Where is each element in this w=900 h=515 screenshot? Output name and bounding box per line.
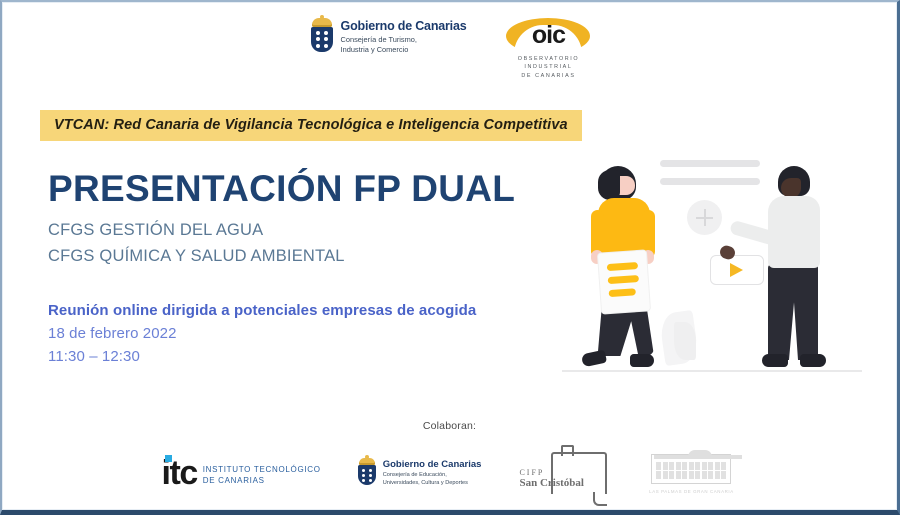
program-subtitle-chemistry: CFGS QUÍMICA Y SALUD AMBIENTAL <box>48 244 345 270</box>
classical-building-icon <box>651 454 731 484</box>
gobierno-canarias-turismo-logo: Gobierno de Canarias Consejería de Turis… <box>309 18 467 54</box>
building-windows <box>656 462 726 479</box>
two-people-sharing-content-illustration <box>562 140 892 390</box>
oic-logo: oic OBSERVATORIO INDUSTRIAL DE CANARIAS <box>506 18 590 80</box>
plant-leaf-icon <box>674 322 696 360</box>
footer-logo-row: itc INSTITUTO TECNOLÓGICO DE CANARIAS Go… <box>2 450 897 496</box>
cifp-name: San Cristóbal <box>519 477 584 490</box>
woman-hair-front <box>598 170 620 200</box>
header-logo-row: Gobierno de Canarias Consejería de Turis… <box>2 18 897 80</box>
man-torso <box>768 196 820 268</box>
oic-wordmark: oic <box>506 23 590 48</box>
ground-line <box>562 370 862 372</box>
document-icon <box>598 250 650 313</box>
crown-icon <box>359 458 375 465</box>
gobierno-logo-subtitle: Consejería de Turismo, Industria y Comer… <box>341 35 467 54</box>
gobierno-educacion-title: Gobierno de Canarias <box>383 460 482 470</box>
program-subtitle-list: CFGS GESTIÓN DEL AGUA CFGS QUÍMICA Y SAL… <box>48 218 345 269</box>
oic-subtitle: OBSERVATORIO INDUSTRIAL DE CANARIAS <box>506 55 590 80</box>
plus-circle-icon <box>687 200 722 235</box>
gobierno-logo-text: Gobierno de Canarias Consejería de Turis… <box>341 18 467 54</box>
itc-subtitle: INSTITUTO TECNOLÓGICO DE CANARIAS <box>203 460 321 486</box>
meeting-details: Reunión online dirigida a potenciales em… <box>48 302 476 365</box>
gobierno-educacion-subtitle: Consejería de Educación, Universidades, … <box>383 472 482 487</box>
gobierno-canarias-educacion-logo: Gobierno de Canarias Consejería de Educa… <box>357 458 482 487</box>
man-face <box>781 178 801 198</box>
shield-body <box>311 27 333 52</box>
meeting-time: 11:30 – 12:30 <box>48 348 476 365</box>
collaborators-label: Colaboran: <box>2 420 897 432</box>
woman-face <box>618 176 635 195</box>
crown-icon <box>312 18 332 27</box>
meeting-date: 18 de febrero 2022 <box>48 325 476 342</box>
itc-logo: itc INSTITUTO TECNOLÓGICO DE CANARIAS <box>162 458 321 489</box>
cifp-text: CIFP San Cristóbal <box>519 468 584 490</box>
gobierno-logo-title: Gobierno de Canarias <box>341 20 467 33</box>
cifp-san-cristobal-logo: CIFP San Cristóbal <box>517 450 609 496</box>
woman-shoe-left <box>581 350 607 368</box>
building-pediment <box>688 450 712 457</box>
vtcan-banner: VTCAN: Red Canaria de Vigilancia Tecnoló… <box>40 110 582 141</box>
cifp-acronym: CIFP <box>519 468 584 477</box>
man-shoe-right <box>800 354 826 367</box>
canary-islands-shield-icon <box>309 18 335 52</box>
meeting-headline: Reunión online dirigida a potenciales em… <box>48 302 476 319</box>
canary-islands-shield-icon <box>357 458 377 485</box>
woman-shoe-right <box>630 354 654 367</box>
placeholder-line-icon <box>660 160 760 167</box>
gobierno-educacion-text: Gobierno de Canarias Consejería de Educa… <box>383 458 482 487</box>
placeholder-line-icon <box>660 178 760 185</box>
oic-mark: oic <box>506 18 590 54</box>
page-title: PRESENTACIÓN FP DUAL <box>48 170 515 207</box>
institution-building-logo: LAS PALMAS DE GRAN CANARIA <box>645 450 737 496</box>
institution-caption: LAS PALMAS DE GRAN CANARIA <box>645 489 737 494</box>
itc-wordmark: itc <box>162 458 197 489</box>
program-subtitle-water: CFGS GESTIÓN DEL AGUA <box>48 218 345 244</box>
itc-dot-icon <box>165 455 172 462</box>
man-shoe-left <box>762 354 788 367</box>
play-button-card-icon <box>710 255 764 285</box>
shield-body <box>358 465 376 485</box>
poster-canvas: Gobierno de Canarias Consejería de Turis… <box>0 0 900 515</box>
man-trousers <box>768 264 818 360</box>
building-roof <box>654 455 742 459</box>
